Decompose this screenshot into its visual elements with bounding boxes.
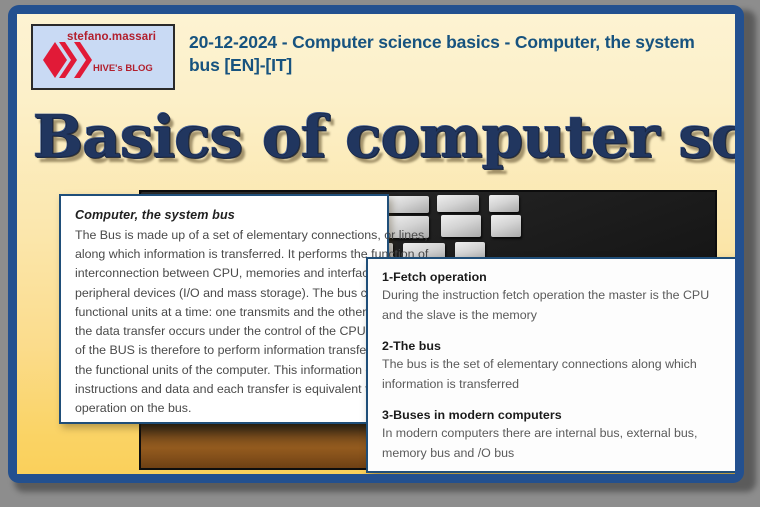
main-text-card: Computer, the system bus The Bus is made… [59,194,389,424]
card-heading: Computer, the system bus [75,208,373,222]
card-body: The Bus is made up of a set of elementar… [75,226,373,418]
popup-section: 3-Buses in modern computers In modern co… [382,408,728,463]
card-line: interconnection between CPU, memories an… [75,264,373,283]
wordart-title: Basics of computer science [33,104,735,170]
popup-section-body: During the instruction fetch operation t… [382,285,728,325]
card-line: the functional units of the computer. Th… [75,361,373,380]
summary-popup-card: 1-Fetch operation During the instruction… [366,257,735,473]
popup-section: 1-Fetch operation During the instruction… [382,270,728,325]
popup-section: 2-The bus The bus is the set of elementa… [382,339,728,394]
hive-logo-icon [42,40,96,80]
blog-author-name: stefano.massari [67,31,156,43]
card-line: along which information is transferred. … [75,245,373,264]
card-line: peripheral devices (I/O and mass storage… [75,284,373,303]
blog-subtitle: HIVE's BLOG [93,63,153,74]
slide-frame: stefano.massari HIVE's BLOG 20-12-2024 -… [8,5,744,483]
slide-canvas: stefano.massari HIVE's BLOG 20-12-2024 -… [17,14,735,474]
card-line: The Bus is made up of a set of elementar… [75,226,373,245]
card-line: of the BUS is therefore to perform infor… [75,341,373,360]
card-line: functional units at a time: one transmit… [75,303,373,322]
popup-section-heading: 1-Fetch operation [382,270,728,284]
card-line: operation on the bus. [75,399,373,418]
popup-section-body: In modern computers there are internal b… [382,423,728,463]
popup-section-heading: 2-The bus [382,339,728,353]
page-title: 20-12-2024 - Computer science basics - C… [189,31,729,78]
blog-logo-box: stefano.massari HIVE's BLOG [31,24,175,90]
card-line: the data transfer occurs under the contr… [75,322,373,341]
wordart-title-wrap: Basics of computer science [33,104,735,172]
slide-root: stefano.massari HIVE's BLOG 20-12-2024 -… [0,0,760,507]
card-line: instructions and data and each transfer … [75,380,373,399]
popup-section-body: The bus is the set of elementary connect… [382,354,728,394]
popup-section-heading: 3-Buses in modern computers [382,408,728,422]
